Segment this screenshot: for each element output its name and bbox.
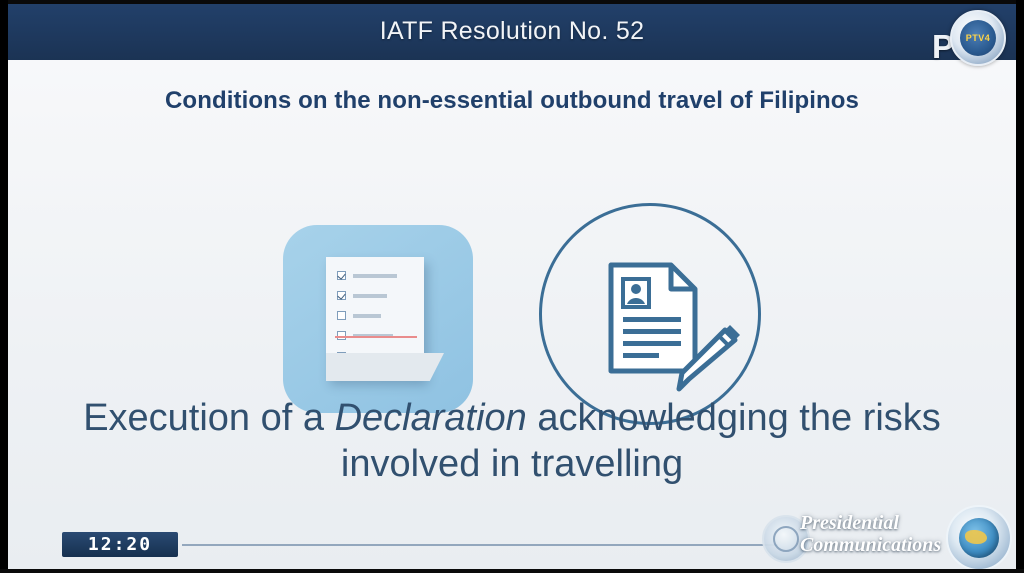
letterbox-bottom — [0, 569, 1024, 573]
checklist-line — [353, 274, 397, 278]
checkbox-empty-icon — [337, 311, 346, 320]
checklist-row — [337, 311, 413, 321]
slide-statement: Execution of a Declaration acknowledging… — [66, 395, 958, 488]
circle-outline — [539, 203, 761, 425]
checklist-row — [337, 291, 413, 301]
globe-seal-inner — [959, 518, 999, 558]
statement-emphasis: Declaration — [335, 397, 527, 439]
slide-header: IATF Resolution No. 52 — [6, 4, 1018, 60]
presidential-communications-logo: Presidential Communications — [762, 503, 1012, 569]
signed-document-icon — [539, 203, 761, 425]
checklist-icon — [283, 225, 473, 413]
checklist-line — [353, 294, 387, 298]
video-frame: IATF Resolution No. 52 P PTV4 Conditions… — [0, 0, 1024, 573]
statement-part-1: Execution of a — [83, 397, 334, 439]
slide-body: Conditions on the non-essential outbound… — [6, 60, 1018, 569]
letterbox-top — [0, 0, 1024, 4]
timecode-display: 12:20 — [62, 532, 178, 557]
checklist-shadow-fold — [326, 353, 444, 381]
letterbox-left — [0, 0, 8, 573]
checklist-row — [337, 271, 413, 281]
slide-subtitle: Conditions on the non-essential outbound… — [6, 87, 1018, 115]
checklist-line — [353, 314, 381, 318]
ptv-logo-globe-icon: PTV4 — [950, 10, 1006, 66]
icon-row — [6, 165, 1018, 380]
ptv-logo: P PTV4 — [932, 6, 1006, 62]
globe-seal-icon — [946, 505, 1012, 571]
ptv-logo-badge-text: PTV4 — [966, 33, 991, 43]
checkbox-checked-icon — [337, 291, 346, 300]
checklist-strikethrough — [335, 336, 417, 338]
letterbox-right — [1016, 0, 1024, 573]
page-title: IATF Resolution No. 52 — [6, 17, 1018, 46]
checkbox-checked-icon — [337, 271, 346, 280]
timeline-rule — [182, 544, 778, 546]
